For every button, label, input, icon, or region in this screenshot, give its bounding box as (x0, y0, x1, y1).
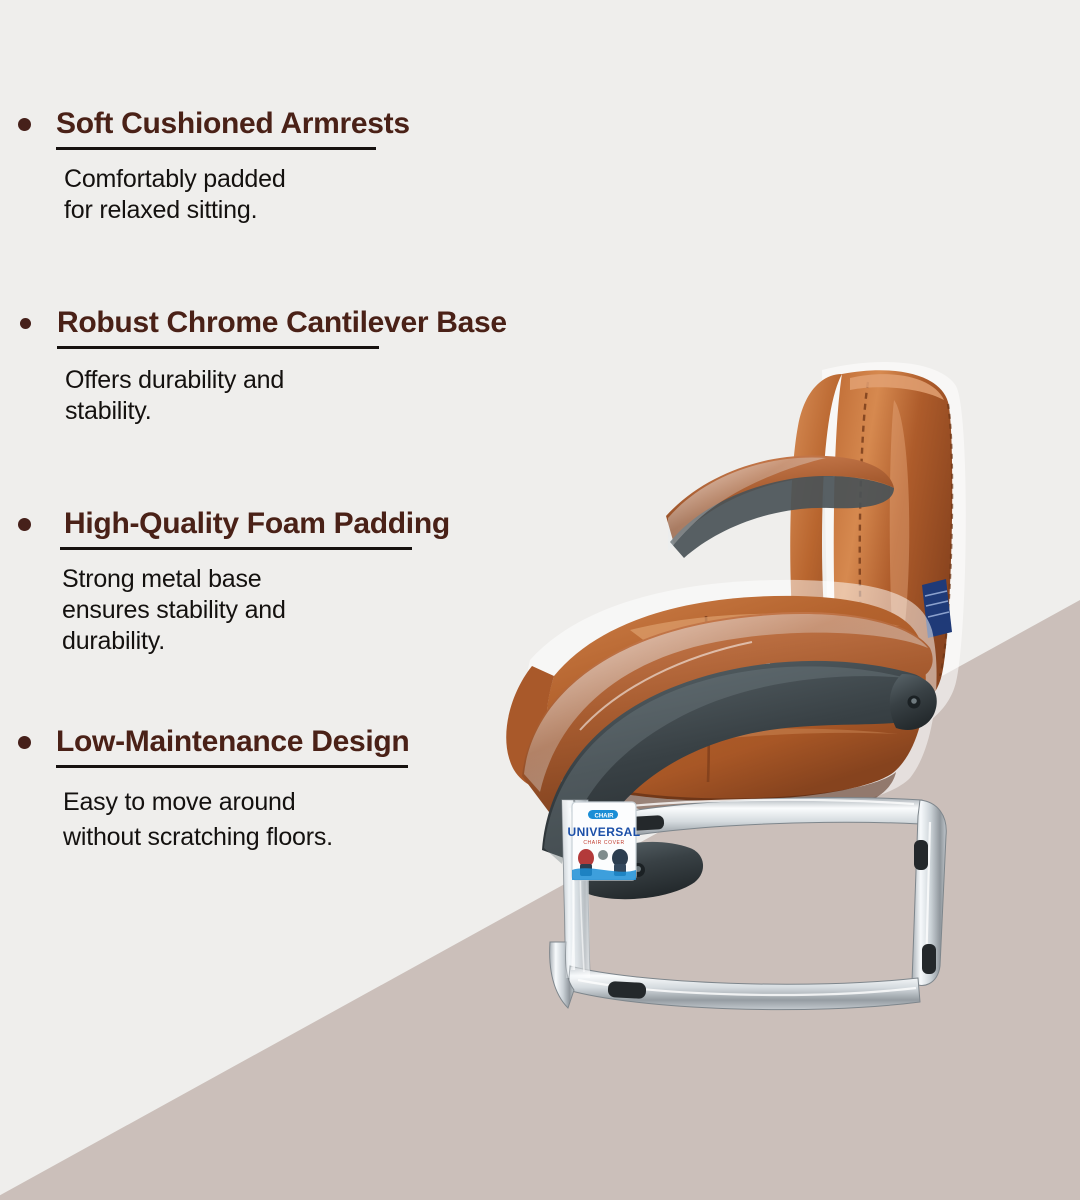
bullet-marker-icon (18, 118, 31, 131)
feature-heading: Low-Maintenance Design (56, 725, 409, 758)
bullet-marker-icon (20, 318, 31, 329)
heading-underline-rule (56, 765, 408, 768)
feature-heading: High-Quality Foam Padding (56, 507, 450, 540)
svg-text:UNIVERSAL: UNIVERSAL (568, 825, 641, 839)
svg-text:CHAIR COVER: CHAIR COVER (583, 840, 624, 846)
heading-underline-rule (56, 147, 376, 150)
product-feature-poster: CHAIR UNIVERSAL CHAIR COVER Soft Cushion… (0, 0, 1080, 1200)
heading-underline-rule (57, 346, 379, 349)
feature-block-low-maintenance-design: Low-Maintenance Design Easy to move arou… (18, 726, 409, 856)
feature-block-soft-cushioned-armrests: Soft Cushioned Armrests Comfortably padd… (18, 108, 410, 226)
svg-text:CHAIR: CHAIR (595, 814, 615, 820)
product-hang-tag: CHAIR UNIVERSAL CHAIR COVER (568, 800, 641, 880)
feature-block-high-quality-foam-padding: High-Quality Foam Padding Strong metal b… (18, 508, 450, 657)
feature-description: Strong metal base ensures stability and … (62, 564, 450, 657)
feature-description: Easy to move around without scratching f… (63, 785, 409, 856)
heading-underline-rule (60, 547, 412, 550)
feature-heading: Robust Chrome Cantilever Base (57, 306, 507, 339)
bullet-marker-icon (18, 518, 31, 531)
bullet-marker-icon (18, 736, 31, 749)
feature-block-robust-chrome-cantilever-base: Robust Chrome Cantilever Base Offers dur… (20, 307, 507, 427)
feature-heading: Soft Cushioned Armrests (56, 107, 410, 140)
feature-description: Comfortably padded for relaxed sitting. (64, 164, 410, 226)
feature-description: Offers durability and stability. (65, 365, 507, 427)
product-photo-office-chair: CHAIR UNIVERSAL CHAIR COVER (470, 330, 1080, 1090)
